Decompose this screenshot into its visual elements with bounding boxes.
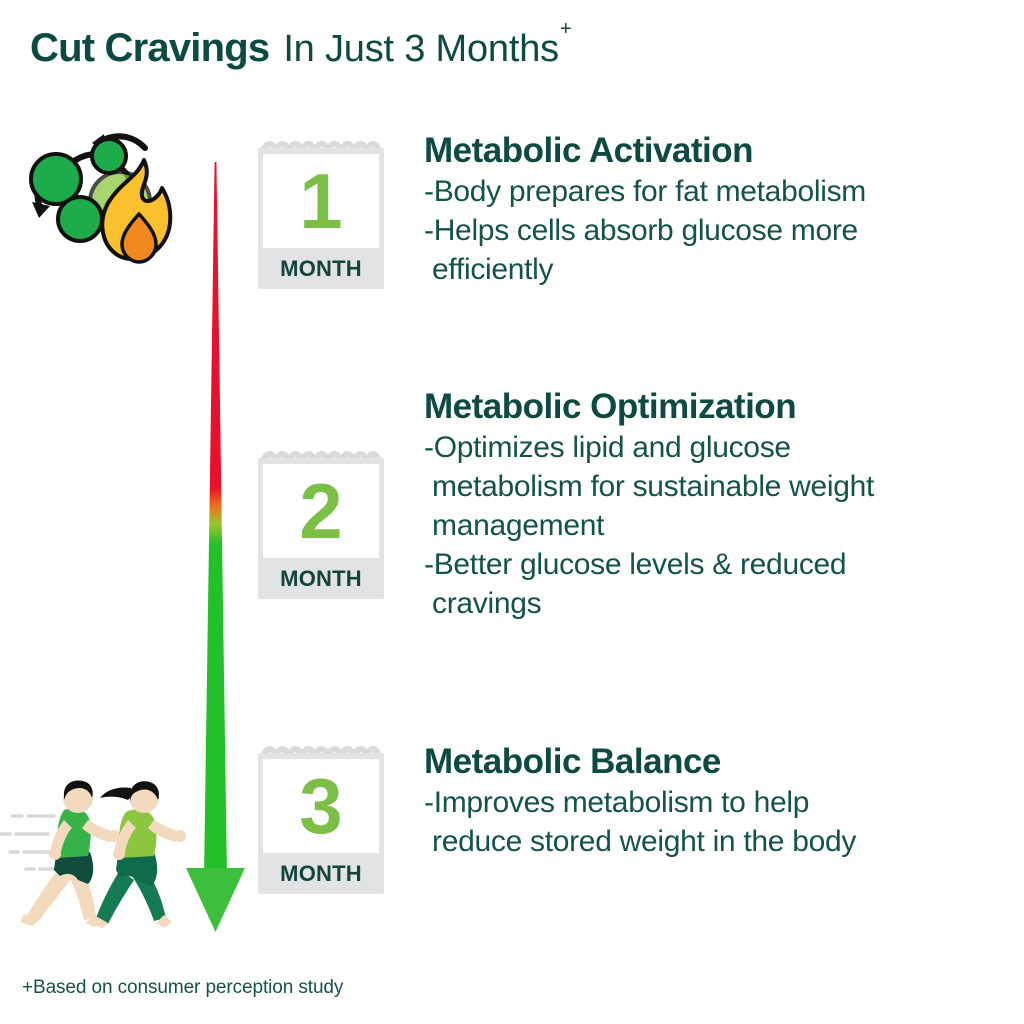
page-title: Cut Cravings In Just 3 Months+ [30,26,570,71]
footnote: +Based on consumer perception study [22,977,343,999]
calendar-month-number: 1 [263,154,379,248]
calendar-page-icon-month-2: 2 MONTH [258,447,384,599]
stage-heading: Metabolic Optimization [424,387,1014,426]
stage-line: -Optimizes lipid and glucose [424,428,1014,467]
female-runner [90,781,186,928]
stage-body: -Optimizes lipid and glucose metabolism … [424,428,1014,623]
stage-body: -Improves metabolism to help reduce stor… [424,783,1014,861]
stage-block-3: Metabolic Balance -Improves metabolism t… [424,742,1014,861]
stage-line: management [424,506,1014,545]
stage-line: reduce stored weight in the body [424,822,1014,861]
stage-line: efficiently [424,250,1014,289]
stage-line: -Helps cells absorb glucose more [424,211,1014,250]
calendar-month-label: MONTH [258,559,384,599]
calendar-month-label: MONTH [258,854,384,894]
calendar-month-number: 2 [263,464,379,558]
calendar-month-number: 3 [263,759,379,853]
calendar-paper: 3 [263,759,379,853]
stage-body: -Body prepares for fat metabolism -Helps… [424,172,1014,289]
motion-lines [0,816,60,869]
calendar-paper: 1 [263,154,379,248]
stage-block-2: Metabolic Optimization -Optimizes lipid … [424,387,1014,623]
calendar-page-icon-month-3: 3 MONTH [258,742,384,894]
calendar-page-icon-month-1: 1 MONTH [258,137,384,289]
stage-line: metabolism for sustainable weight [424,467,1014,506]
running-couple-icon [0,772,213,937]
title-light-text: In Just 3 Months [283,28,559,70]
stage-heading: Metabolic Balance [424,742,1014,781]
title-bold-part: Cut Cravings [30,26,269,71]
metabolism-flame-icon [12,122,197,277]
calendar-body: 3 MONTH [258,753,384,894]
stage-heading: Metabolic Activation [424,131,1014,170]
calendar-body: 2 MONTH [258,458,384,599]
stage-line: -Better glucose levels & reduced [424,545,1014,584]
calendar-paper: 2 [263,464,379,558]
stage-block-1: Metabolic Activation -Body prepares for … [424,131,1014,289]
calendar-body: 1 MONTH [258,148,384,289]
stage-line: -Body prepares for fat metabolism [424,172,1014,211]
title-light-part: In Just 3 Months+ [283,28,570,71]
stage-line: cravings [424,584,1014,623]
title-superscript: + [560,18,571,40]
stage-line: -Improves metabolism to help [424,783,1014,822]
infographic-page: Cut Cravings In Just 3 Months+ [0,0,1024,1024]
calendar-month-label: MONTH [258,249,384,289]
